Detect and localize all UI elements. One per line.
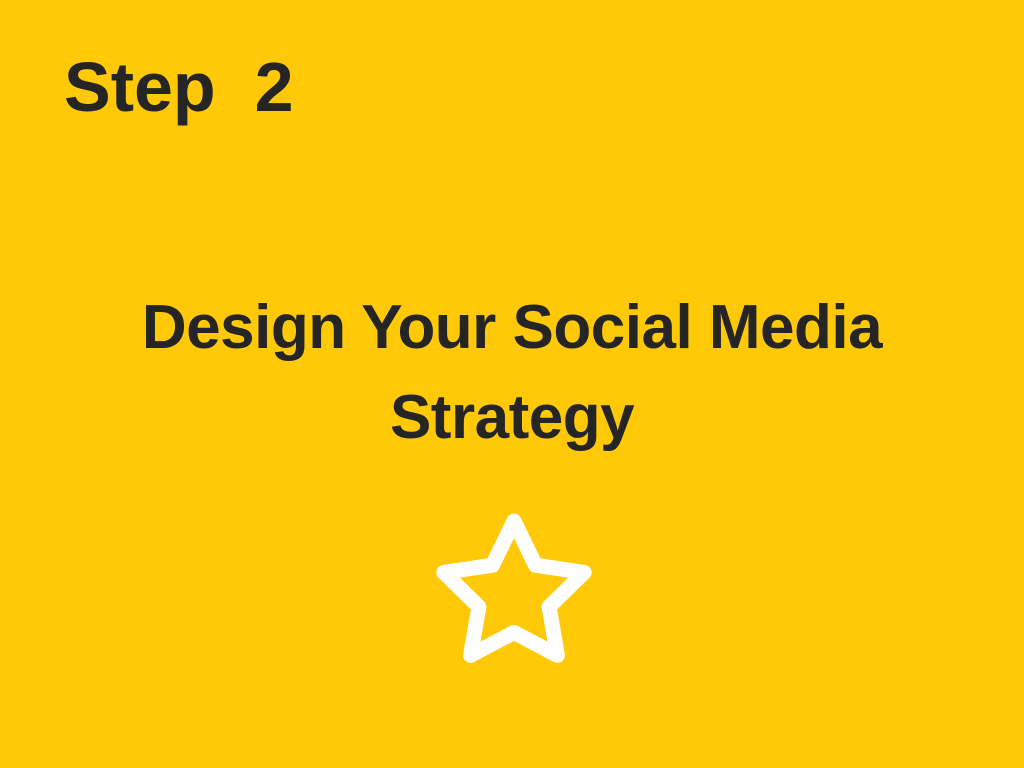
slide-canvas: Step 2 Design Your Social Media Strategy <box>0 0 1024 768</box>
page-title: Design Your Social Media Strategy <box>0 283 1024 463</box>
star-icon <box>424 505 604 685</box>
star-icon-glyph <box>424 505 604 685</box>
step-label: Step 2 <box>64 52 294 122</box>
